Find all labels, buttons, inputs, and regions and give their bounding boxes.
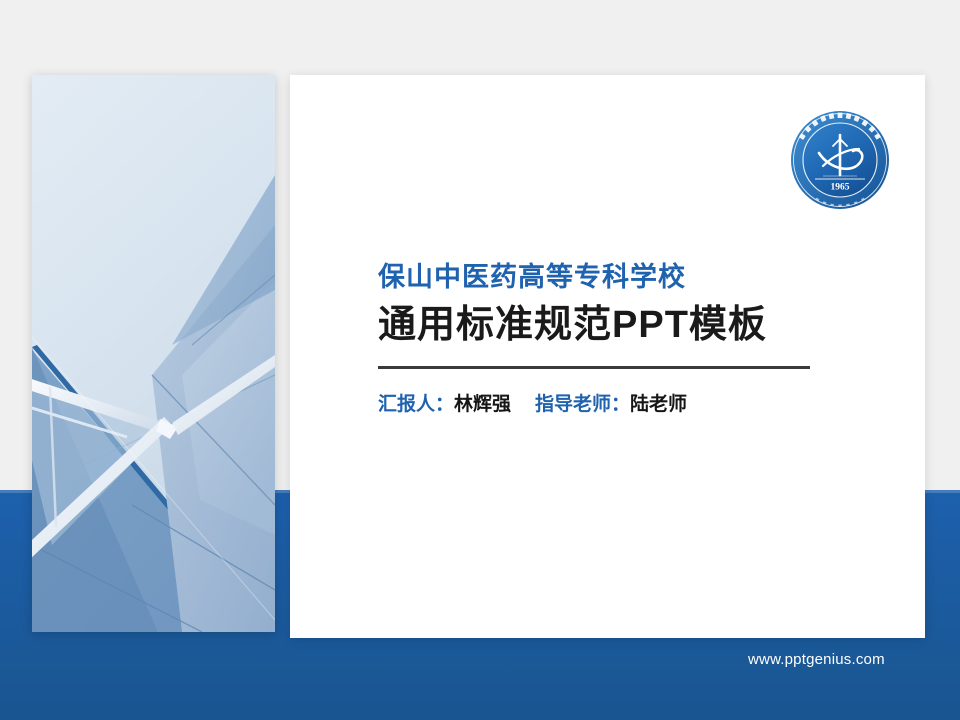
school-emblem: 1965: [789, 109, 891, 211]
title-text-block: 保山中医药高等专科学校 通用标准规范PPT模板 汇报人：林辉强指导老师：陆老师: [378, 262, 814, 417]
advisor-value: 陆老师: [630, 394, 687, 415]
presenter-line: 汇报人：林辉强指导老师：陆老师: [378, 393, 814, 418]
title-divider: [378, 366, 810, 369]
footer-website-url[interactable]: www.pptgenius.com: [748, 651, 885, 668]
presentation-slide: 1965 保山中医药高等专科学校 通用标准规范PPT模板 汇报人：林辉强指导老师…: [0, 0, 960, 720]
architecture-photo: [32, 75, 275, 632]
emblem-year: 1965: [831, 183, 850, 193]
school-name: 保山中医药高等专科学校: [378, 262, 814, 292]
advisor-label: 指导老师：: [535, 394, 630, 415]
page-title: 通用标准规范PPT模板: [378, 304, 814, 347]
presenter-label: 汇报人：: [378, 394, 454, 415]
presenter-value: 林辉强: [454, 394, 511, 415]
